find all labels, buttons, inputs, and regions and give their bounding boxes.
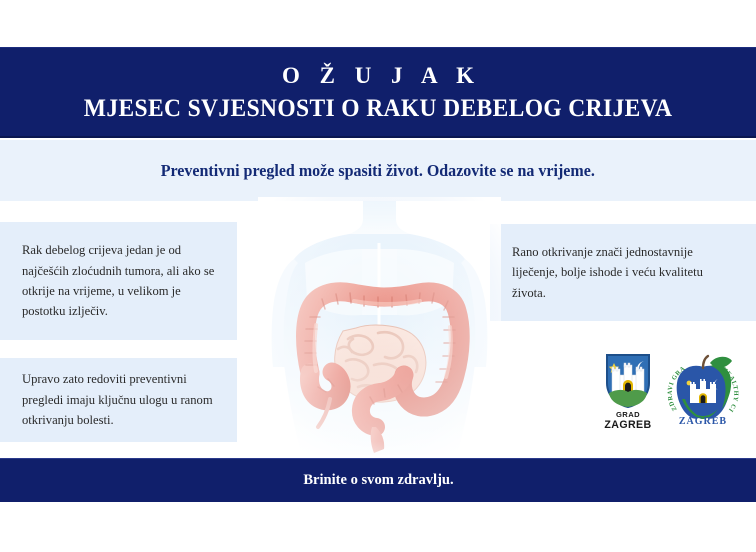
logo-group: GRAD ZAGREB — [588, 353, 756, 449]
info-box-text: Rano otkrivanje znači jednostavnije lije… — [512, 242, 738, 303]
logo-caption-big: ZAGREB — [604, 420, 651, 432]
infographic-poster: O Ž U J A K MJESEC SVJESNOSTI O RAKU DEB… — [0, 0, 756, 552]
footer-band: Brinite o svom zdravlju. — [0, 458, 756, 502]
info-box-text: Rak debelog crijeva jedan je od najčešći… — [22, 240, 217, 322]
logo-grad-zagreb-caption: GRAD ZAGREB — [604, 411, 651, 431]
zagreb-coat-of-arms-icon — [604, 353, 652, 409]
subtitle-text: Preventivni pregled može spasiti život. … — [161, 161, 595, 181]
info-box-text: Upravo zato redoviti preventivni pregled… — [22, 369, 217, 430]
logo-zdravi-grad-zagreb: ZDRAVI GRAD HEALTHY CITY ZAGREB — [666, 353, 740, 427]
colon-anatomy-illustration — [258, 197, 501, 459]
subtitle-band: Preventivni pregled može spasiti život. … — [0, 140, 756, 201]
header-band: O Ž U J A K MJESEC SVJESNOSTI O RAKU DEB… — [0, 47, 756, 138]
info-box-right-primary: Rano otkrivanje znači jednostavnije lije… — [490, 224, 756, 321]
footer-text: Brinite o svom zdravlju. — [303, 472, 453, 489]
info-box-left-secondary: Upravo zato redoviti preventivni pregled… — [0, 358, 237, 442]
healthy-city-apple-icon: ZDRAVI GRAD HEALTHY CITY ZAGREB — [666, 353, 740, 427]
logo-grad-zagreb: GRAD ZAGREB — [604, 353, 652, 431]
page-title-month: O Ž U J A K — [275, 64, 481, 87]
page-title-awareness: MJESEC SVJESNOSTI O RAKU DEBELOG CRIJEVA — [84, 96, 673, 121]
content-area: Rak debelog crijeva jedan je od najčešći… — [0, 201, 756, 458]
info-box-left-primary: Rak debelog crijeva jedan je od najčešći… — [0, 222, 237, 340]
apple-caption-text: ZAGREB — [679, 416, 727, 427]
